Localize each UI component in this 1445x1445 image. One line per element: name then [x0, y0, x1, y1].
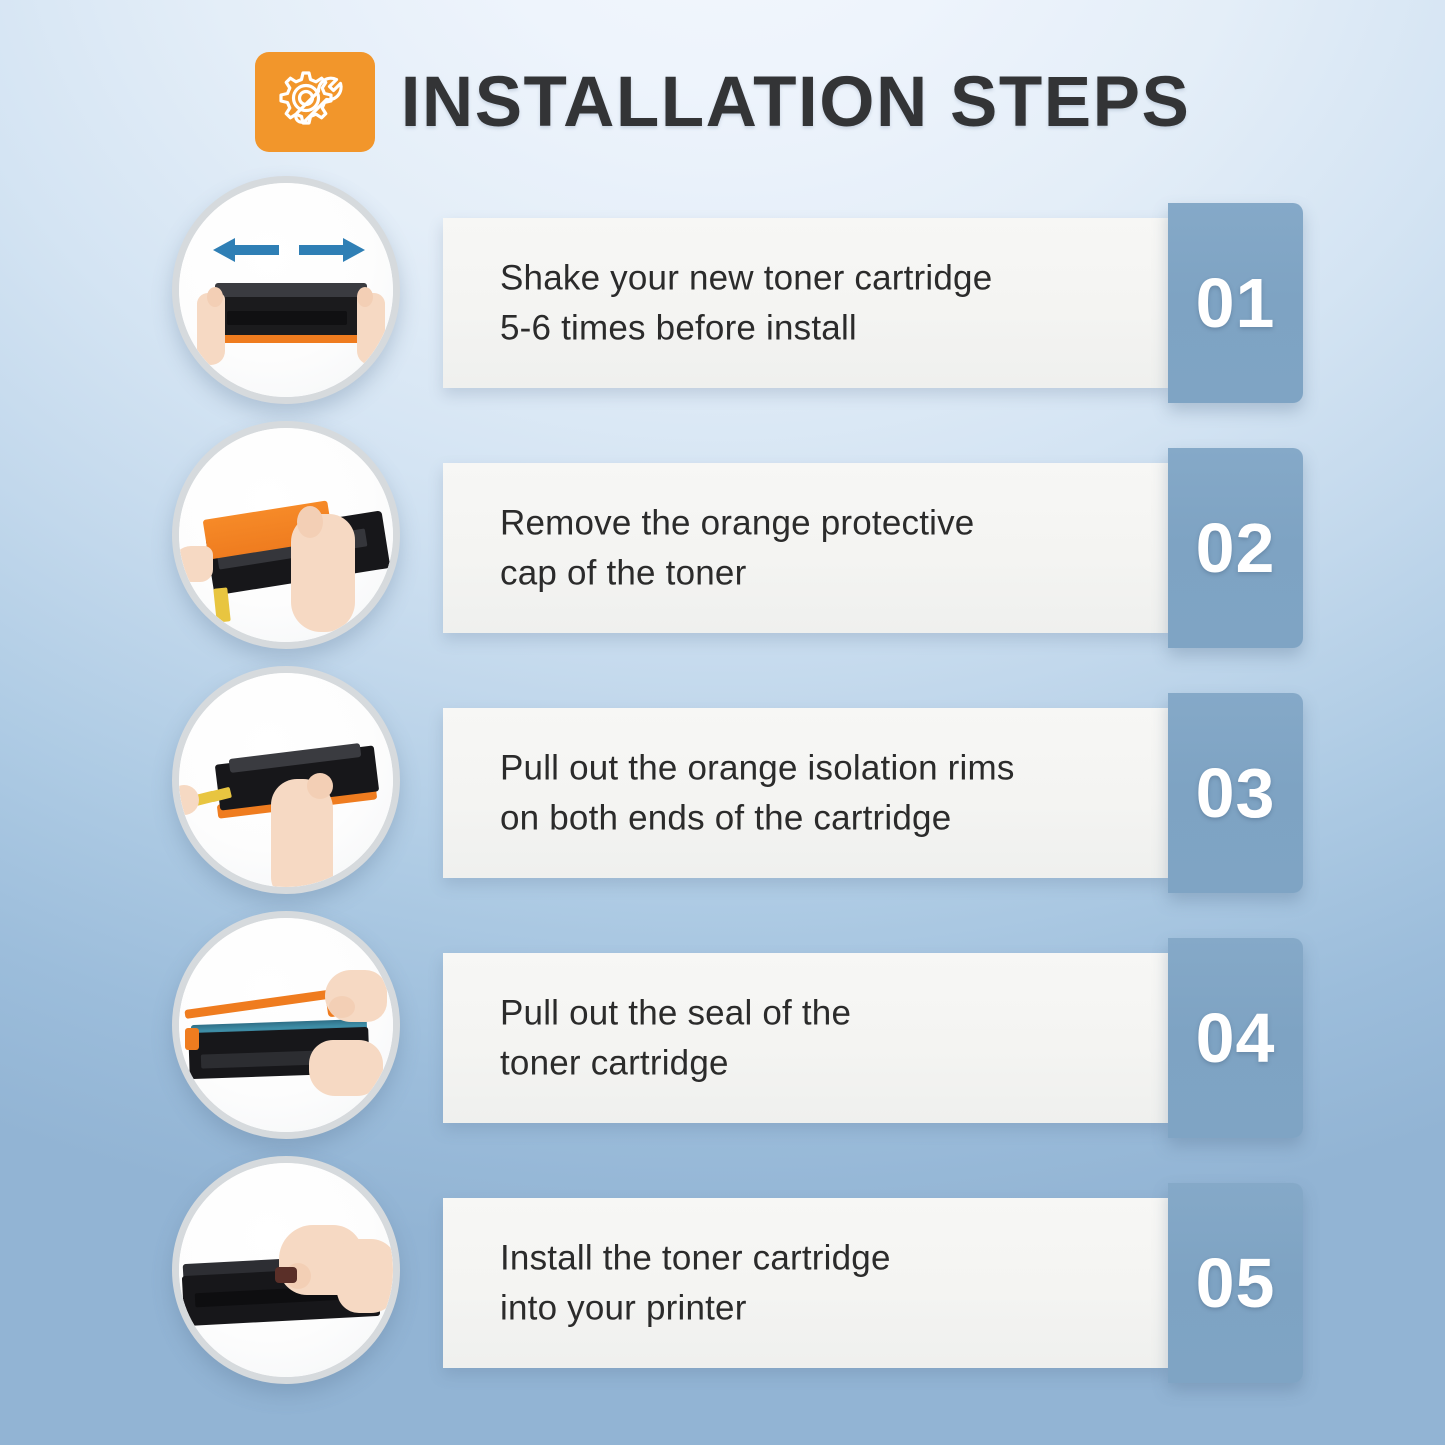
step-text: Pull out the seal of the toner cartridge [500, 988, 851, 1087]
page-header: INSTALLATION STEPS [0, 47, 1445, 157]
step-card: Install the toner cartridge into your pr… [443, 1198, 1168, 1368]
step-text: Pull out the orange isolation rims on bo… [500, 743, 1015, 842]
step-text: Install the toner cartridge into your pr… [500, 1233, 891, 1332]
step-card: Pull out the seal of the toner cartridge [443, 953, 1168, 1123]
step-row: Shake your new toner cartridge 5-6 times… [0, 172, 1445, 417]
step-number-badge: 04 [1168, 938, 1303, 1138]
step-row: Pull out the orange isolation rims on bo… [0, 662, 1445, 907]
step-photo-remove-orange-cap [172, 421, 400, 649]
page-title: INSTALLATION STEPS [401, 67, 1191, 138]
step-text-line2: into your printer [500, 1283, 891, 1333]
step-text-line1: Remove the orange protective [500, 503, 974, 542]
step-card: Pull out the orange isolation rims on bo… [443, 708, 1168, 878]
step-text-line2: 5-6 times before install [500, 303, 992, 353]
step-text-line1: Pull out the orange isolation rims [500, 748, 1015, 787]
step-number-badge: 03 [1168, 693, 1303, 893]
step-number-badge: 02 [1168, 448, 1303, 648]
step-text-line1: Pull out the seal of the [500, 993, 851, 1032]
step-card: Shake your new toner cartridge 5-6 times… [443, 218, 1168, 388]
step-text: Remove the orange protective cap of the … [500, 498, 974, 597]
step-number-badge: 01 [1168, 203, 1303, 403]
step-text-line1: Shake your new toner cartridge [500, 258, 992, 297]
step-photo-pull-isolation-rim [172, 666, 400, 894]
step-card: Remove the orange protective cap of the … [443, 463, 1168, 633]
step-text: Shake your new toner cartridge 5-6 times… [500, 253, 992, 352]
infographic-page: INSTALLATION STEPS [0, 0, 1445, 1445]
step-number-badge: 05 [1168, 1183, 1303, 1383]
step-photo-shake-cartridge [172, 176, 400, 404]
step-text-line1: Install the toner cartridge [500, 1238, 891, 1277]
step-row: Pull out the seal of the toner cartridge… [0, 907, 1445, 1152]
gear-wrench-icon [255, 52, 375, 152]
step-text-line2: on both ends of the cartridge [500, 793, 1015, 843]
step-photo-install-cartridge [172, 1156, 400, 1384]
step-row: Install the toner cartridge into your pr… [0, 1152, 1445, 1397]
step-text-line2: toner cartridge [500, 1038, 851, 1088]
step-row: Remove the orange protective cap of the … [0, 417, 1445, 662]
step-photo-pull-seal [172, 911, 400, 1139]
step-text-line2: cap of the toner [500, 548, 974, 598]
steps-list: Shake your new toner cartridge 5-6 times… [0, 172, 1445, 1397]
